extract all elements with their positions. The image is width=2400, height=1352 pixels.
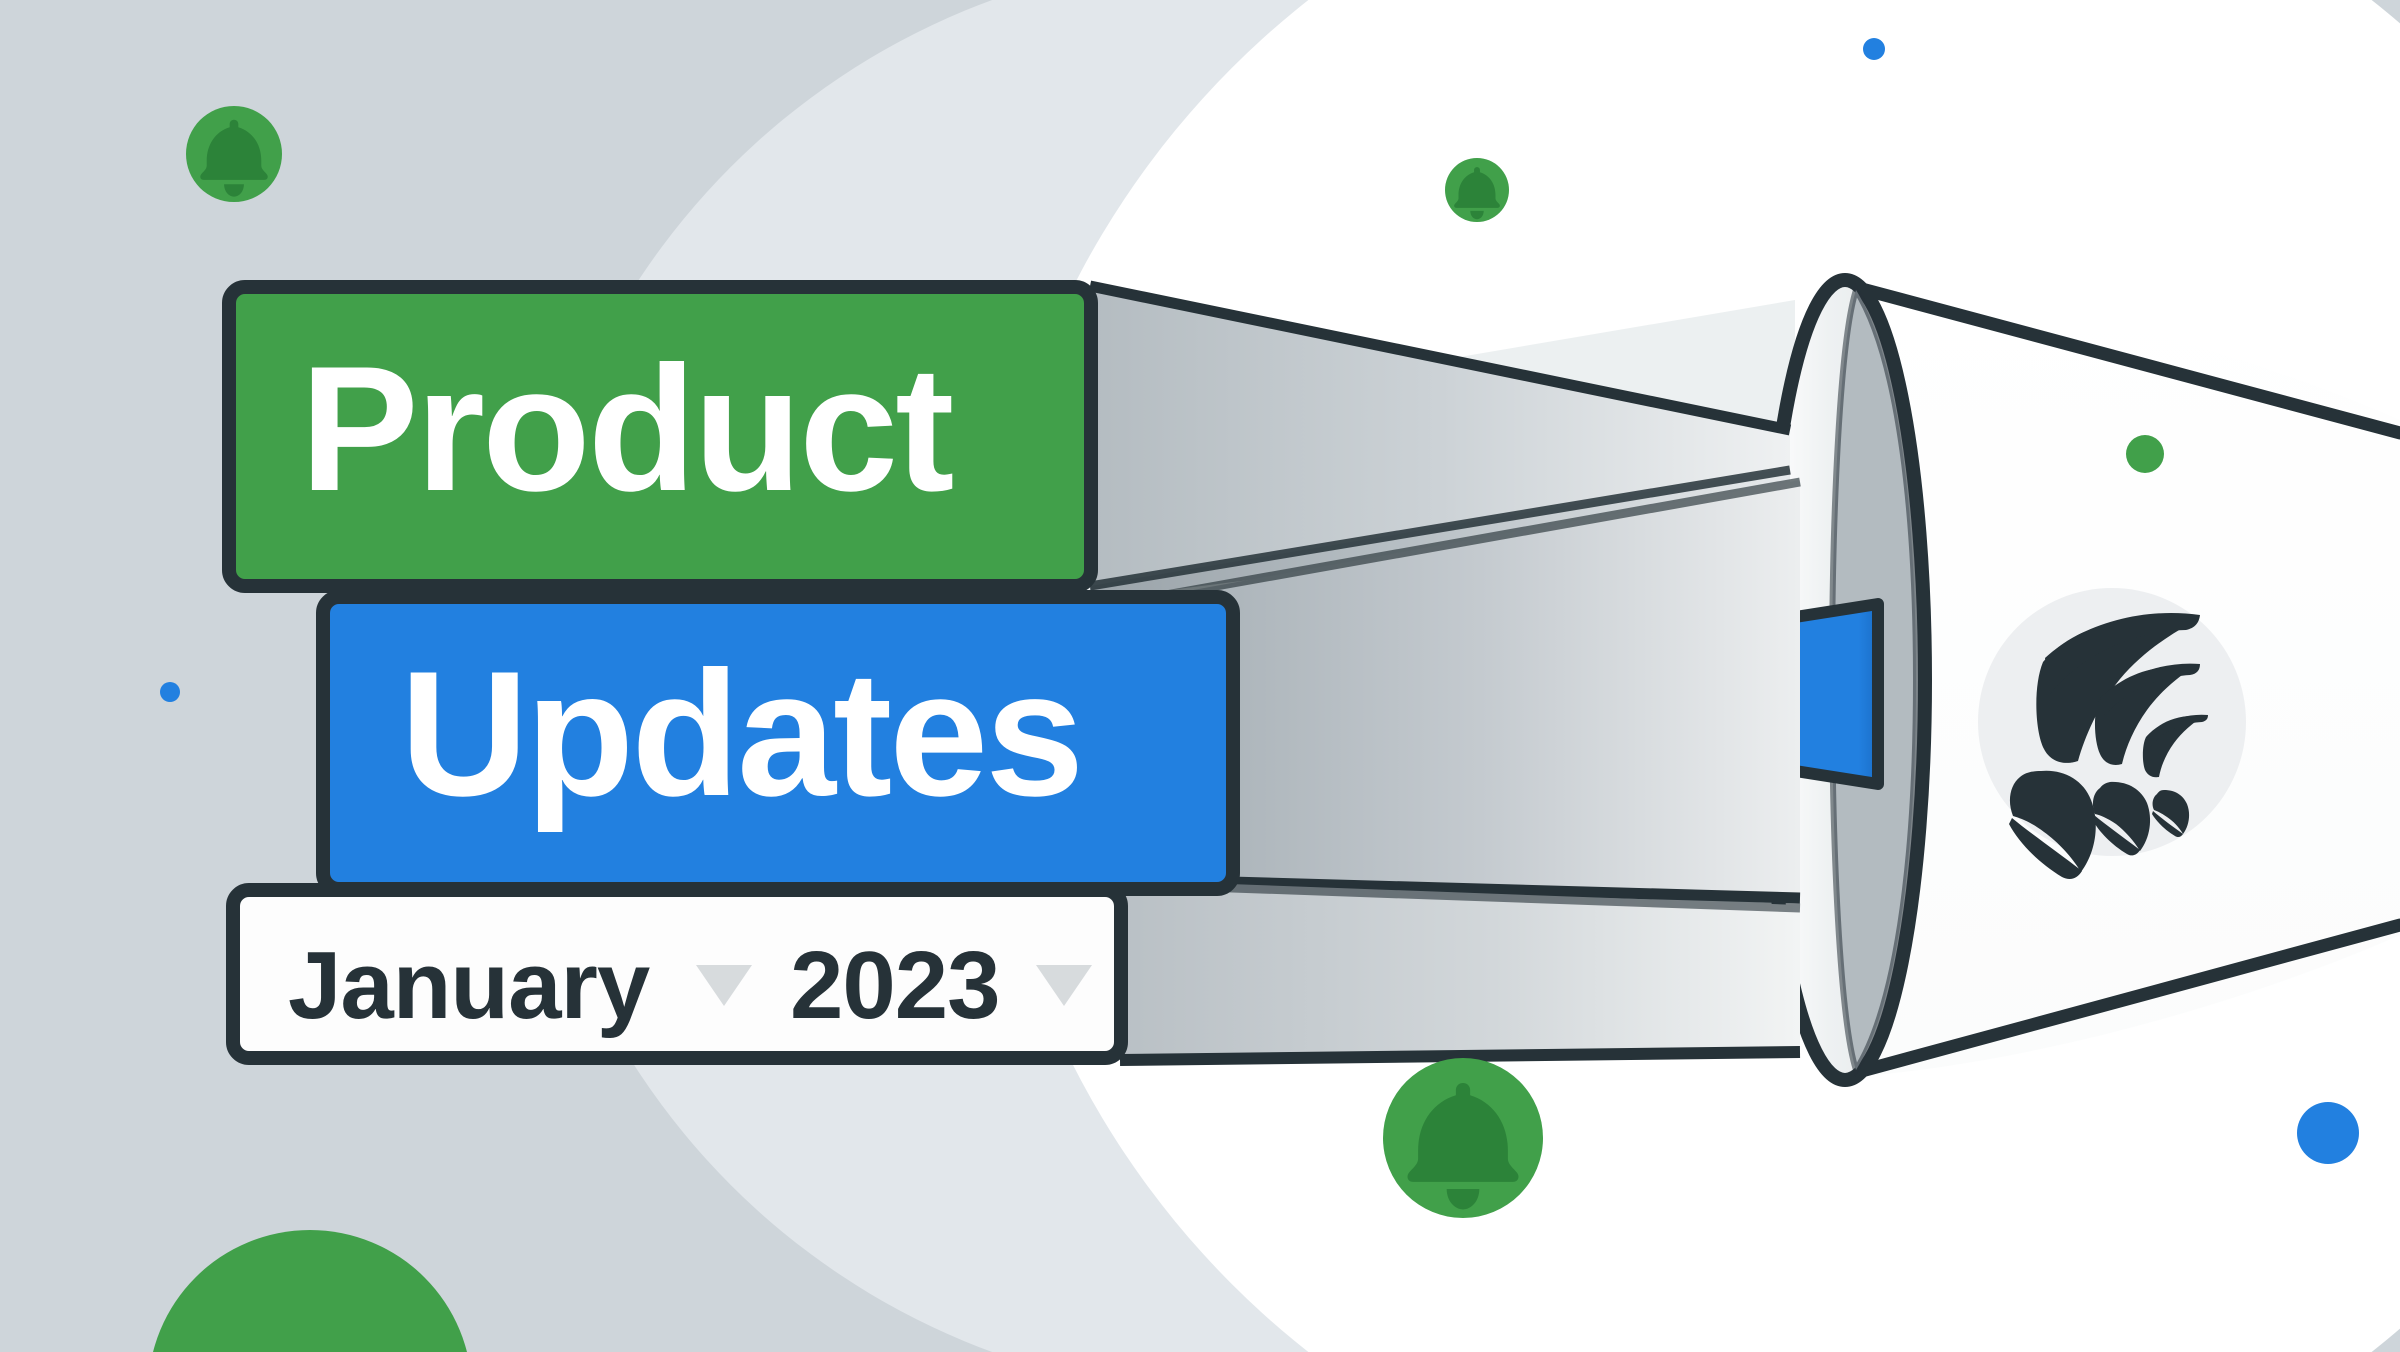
dot-decoration-blue-top-right (1863, 38, 1885, 60)
bell-badge-top-left (186, 106, 282, 202)
artboard: Product Updates January 2023 (0, 0, 2400, 1352)
dot-decoration-blue-bottom-right (2297, 1102, 2359, 1164)
bell-badge-bottom-middle (1383, 1058, 1543, 1218)
dot-decoration-green-bottom-left (148, 1230, 472, 1352)
decorations-layer (0, 0, 2400, 1352)
bell-badge-top-middle (1445, 158, 1509, 222)
product-updates-hero-banner: Product Updates January 2023 (0, 0, 2400, 1352)
dot-decoration-blue-left (160, 682, 180, 702)
dot-decoration-green-megaphone-edge (2126, 435, 2164, 473)
